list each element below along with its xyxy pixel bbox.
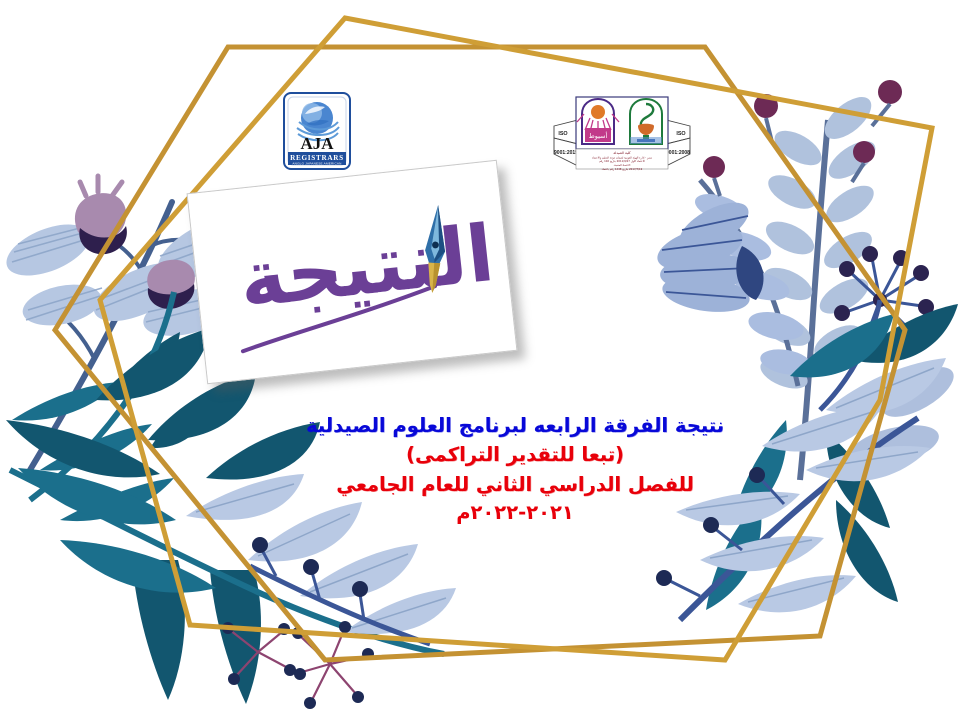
iso-left-label: ISO [558,131,567,137]
result-cover-page: AJA REGISTRARS ANGLO JAPANESE AMERICAN I… [0,0,960,720]
result-title-card: النتيجة [187,160,518,385]
gold-geometric-frame [0,0,960,720]
faculty-caption-2: مصر - إدارة الهيئة القومية لضمان جودة ال… [592,156,653,159]
aja-registrars-logo: AJA REGISTRARS ANGLO JAPANESE AMERICAN [283,92,351,170]
assiut-university-emblem: أسيوط [577,99,619,144]
aja-brand-text: AJA [300,134,334,153]
aja-tagline-text: ANGLO JAPANESE AMERICAN [292,162,341,166]
faculty-caption-3: الاعتماد الأول 2011/9/27 بتاريخ 102 رقم [599,159,645,163]
result-heading-block: نتيجة الفرقة الرابعه لبرنامج العلوم الصي… [300,414,730,525]
faculty-caption-1: كلية الصيدلة [613,151,631,155]
heading-line-1: نتيجة الفرقة الرابعه لبرنامج العلوم الصي… [300,414,730,438]
faculty-caption-5: 2017/7/19 بتاريخ 1448 رقم باعتماد [602,167,643,171]
svg-text:أسيوط: أسيوط [589,131,608,140]
faculty-iso-logo: ISO 9001:2015 ISO 9001:2008 أسيوط [552,92,692,182]
iso-right-standard: 9001:2008 [666,150,690,156]
faculty-caption-4: الاعتماد المتجدد [614,164,631,167]
heading-line-4-academic-year: ٢٠٢١-٢٠٢٢م [300,501,730,525]
pharmacy-emblem [630,99,662,144]
iso-right-label: ISO [676,131,685,137]
iso-left-standard: 9001:2015 [554,150,578,156]
heading-line-3: للفصل الدراسي الثاني للعام الجامعي [300,473,730,497]
heading-line-2: (تبعا للتقدير التراكمى) [300,443,730,467]
